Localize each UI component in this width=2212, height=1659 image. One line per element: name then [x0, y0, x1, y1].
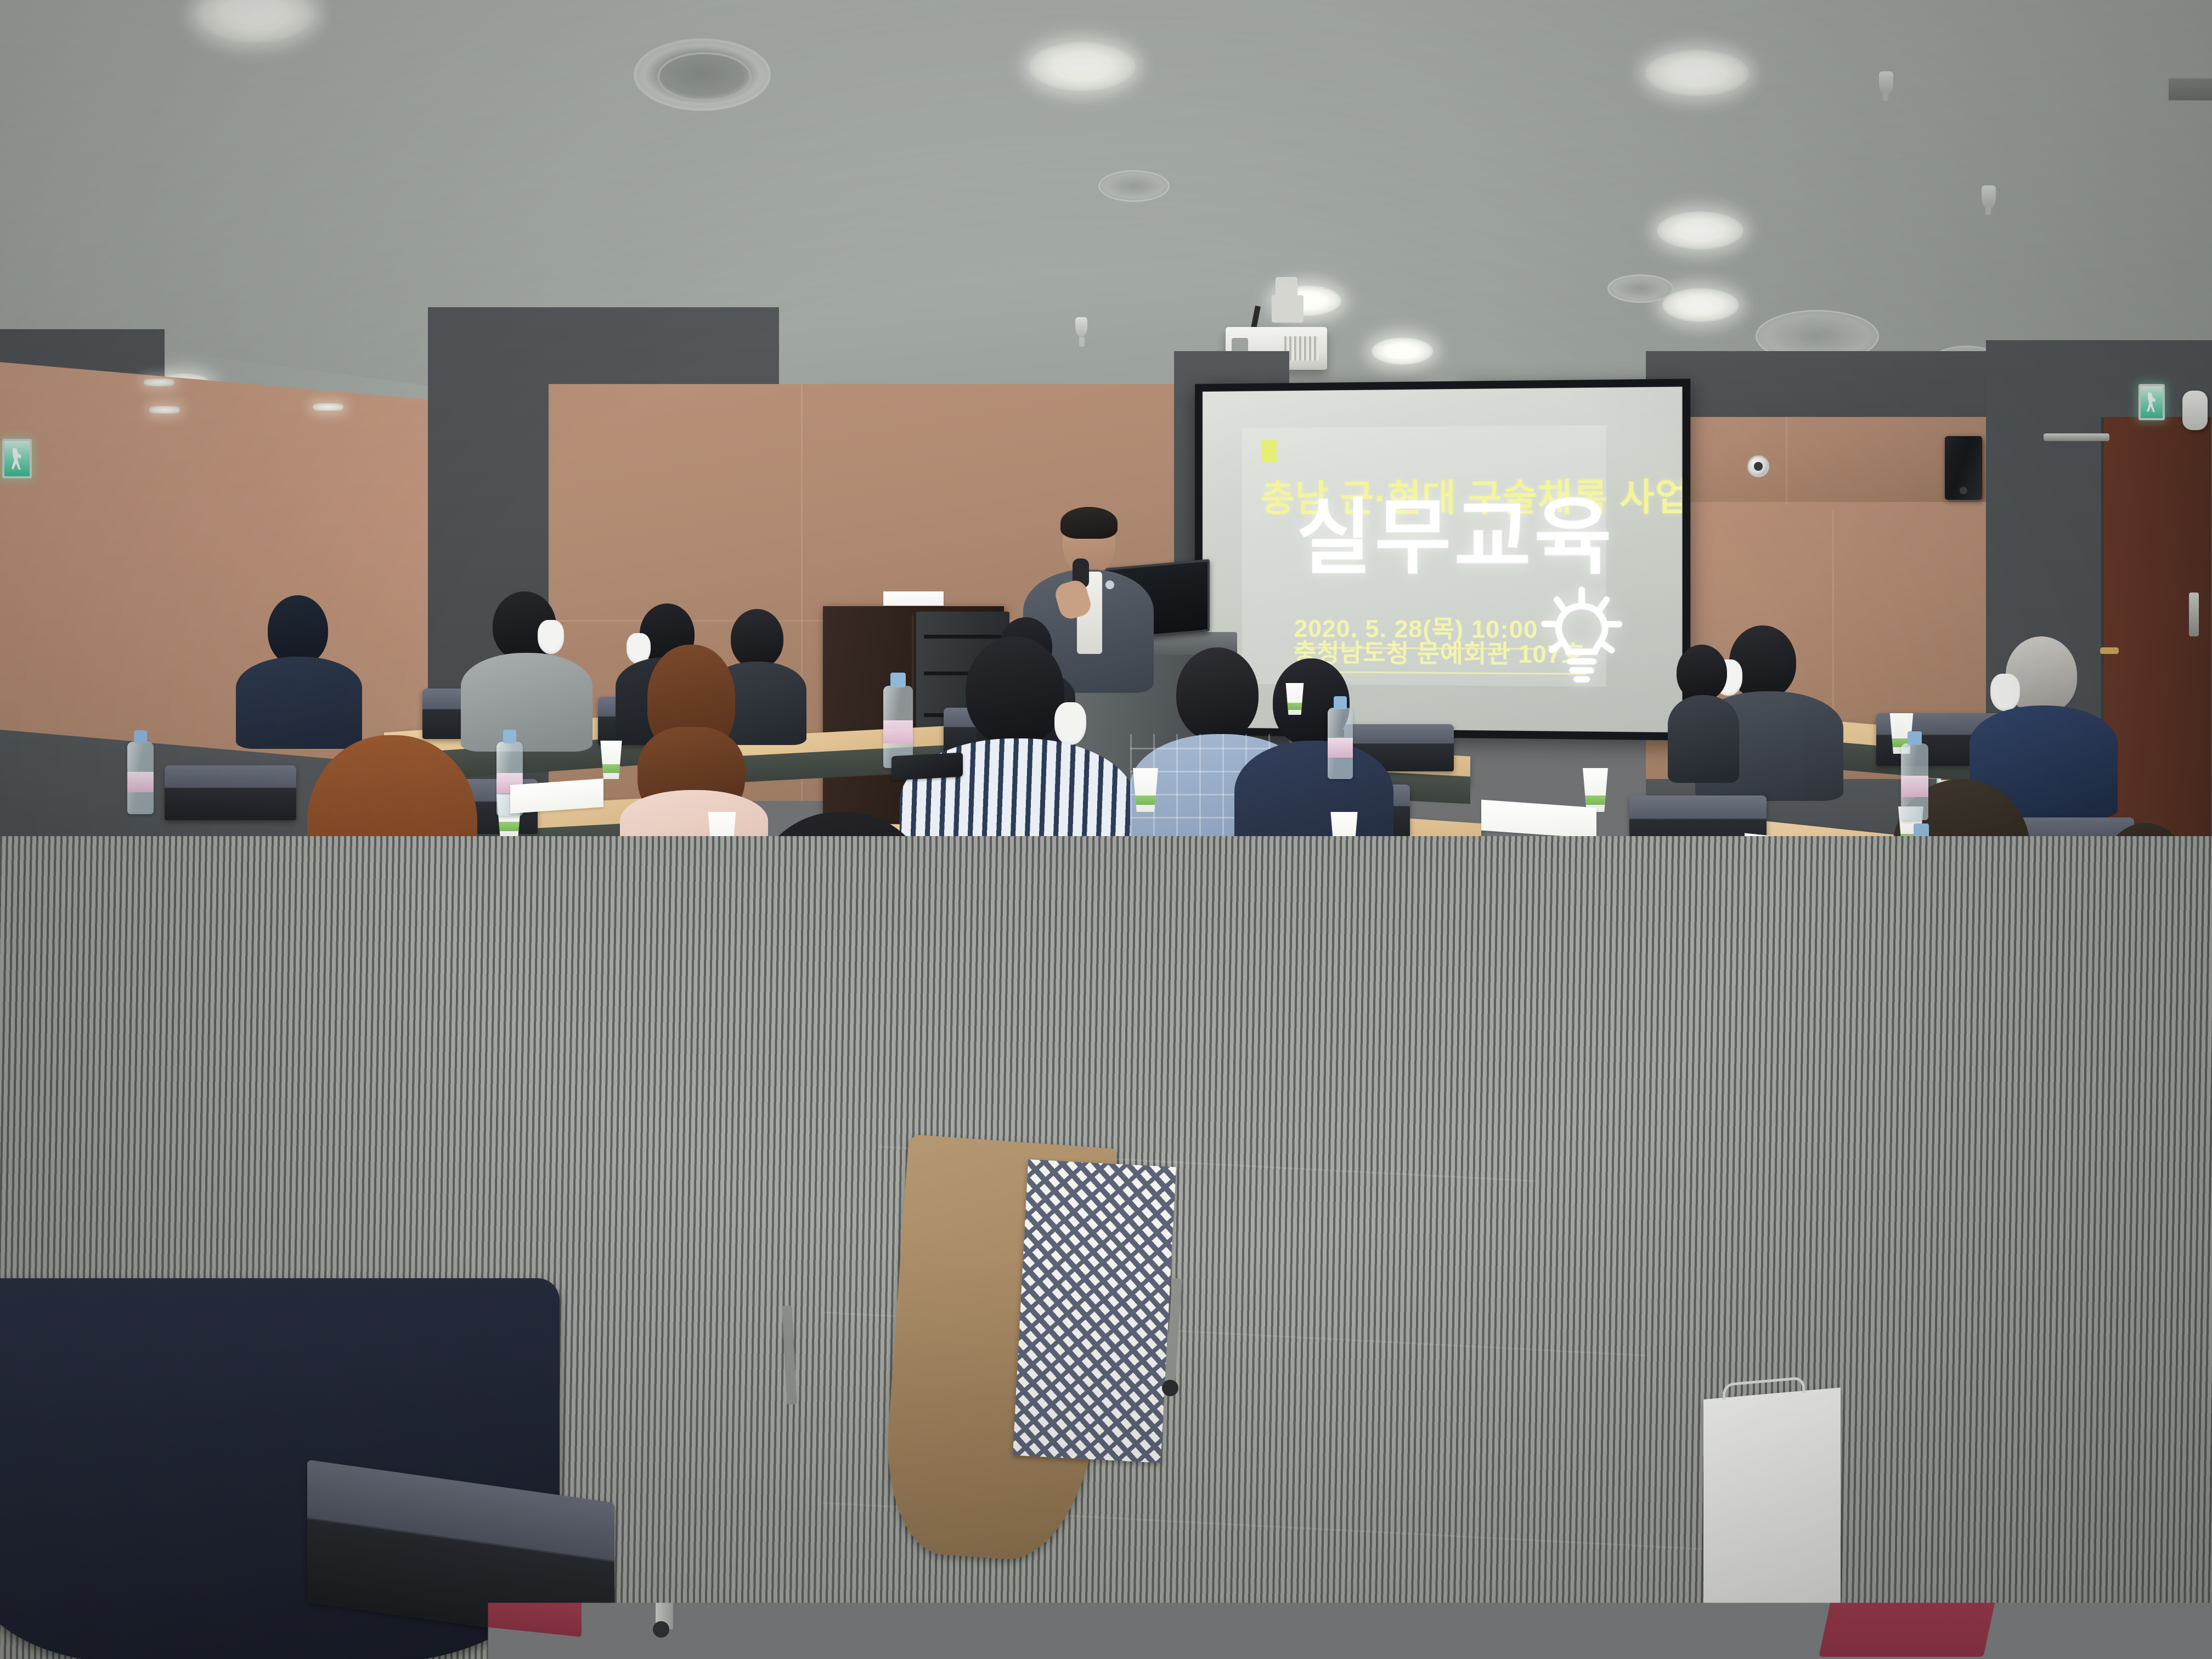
ceiling-speaker-grille: [1098, 170, 1170, 202]
attendee-hair: [966, 636, 1064, 746]
wall-speaker-right: [1945, 436, 1982, 500]
lightbulb-icon: [1541, 584, 1623, 691]
door-closer-arm: [2044, 433, 2109, 441]
water-bottle[interactable]: [127, 742, 154, 814]
face-mask: [1054, 702, 1086, 745]
attendee-back-left: [236, 595, 362, 743]
attendee-torso: [1668, 695, 1739, 783]
bottle-cap: [134, 730, 148, 743]
bottle-label: [127, 772, 154, 792]
mobile-phone[interactable]: [891, 753, 963, 781]
attendee-hair: [1677, 645, 1727, 701]
wall-mounted-sensor: [2182, 391, 2208, 430]
water-bottle[interactable]: [1328, 708, 1353, 779]
face-mask: [538, 620, 564, 654]
tote-pattern: [1013, 1159, 1176, 1463]
bottle-label: [1328, 738, 1353, 758]
ceiling-return-vent: [2167, 77, 2212, 102]
attendee-right-suit2: [1668, 645, 1739, 782]
face-mask: [1990, 674, 2020, 711]
wall-downlight: [313, 403, 343, 411]
projector-mount: [1276, 277, 1297, 297]
bottle-cap: [1908, 731, 1922, 745]
attendee-hair: [268, 595, 328, 665]
projector-mount-arm: [1272, 295, 1304, 323]
bottle-cap: [890, 673, 906, 687]
attendee-back-left2: [461, 591, 592, 748]
cup-green-band: [1580, 795, 1611, 805]
handout-paper[interactable]: [1481, 800, 1596, 839]
ceiling-downlight: [1657, 211, 1743, 250]
water-bottle[interactable]: [1901, 743, 1928, 820]
white-paper-bag[interactable]: [1703, 1387, 1841, 1659]
fire-sprinkler-head: [1879, 71, 1893, 95]
running-man-icon: [2147, 392, 2157, 412]
wall-downlight: [149, 406, 180, 414]
emergency-exit-sign-right: [2138, 384, 2165, 420]
running-man-icon: [12, 448, 22, 470]
ceiling-speaker-grille: [1607, 274, 1673, 303]
bottle-label: [883, 720, 913, 743]
fire-sprinkler-head: [1982, 185, 1996, 210]
wall-camera-icon: [1747, 455, 1769, 477]
ceiling-downlight: [1372, 337, 1433, 365]
projector-vent: [1284, 336, 1319, 360]
bottle-cap: [503, 730, 517, 743]
paper-cup[interactable]: [1580, 768, 1611, 812]
star-pattern-tote-bag[interactable]: [1013, 1159, 1176, 1463]
seminar-room-photo: 충남 근·현대 구술채록 사업 실무교육 2020. 5. 28(목) 10:0…: [0, 0, 2212, 1659]
paper-on-cabinet: [883, 591, 944, 606]
bottle-cap: [1334, 696, 1347, 709]
chair-caster: [1162, 1380, 1178, 1396]
door-hinge: [2189, 592, 2199, 636]
ceiling-downlight: [1029, 41, 1136, 92]
ceiling-downlight: [1662, 288, 1739, 322]
presenter-hair: [1060, 507, 1118, 539]
wall-downlight: [144, 379, 174, 386]
wall-panel-seam: [1786, 417, 1787, 505]
bottle-label: [1901, 776, 1928, 797]
emergency-exit-sign: [2, 439, 32, 478]
fire-sprinkler-head: [1075, 317, 1087, 337]
lapel-badge: [1105, 580, 1114, 589]
slide-heading: 실무교육: [1296, 496, 1633, 579]
ceiling-downlight: [1645, 49, 1749, 97]
slide-accent-square: [1261, 440, 1277, 462]
ceiling-air-diffuser: [634, 38, 771, 111]
